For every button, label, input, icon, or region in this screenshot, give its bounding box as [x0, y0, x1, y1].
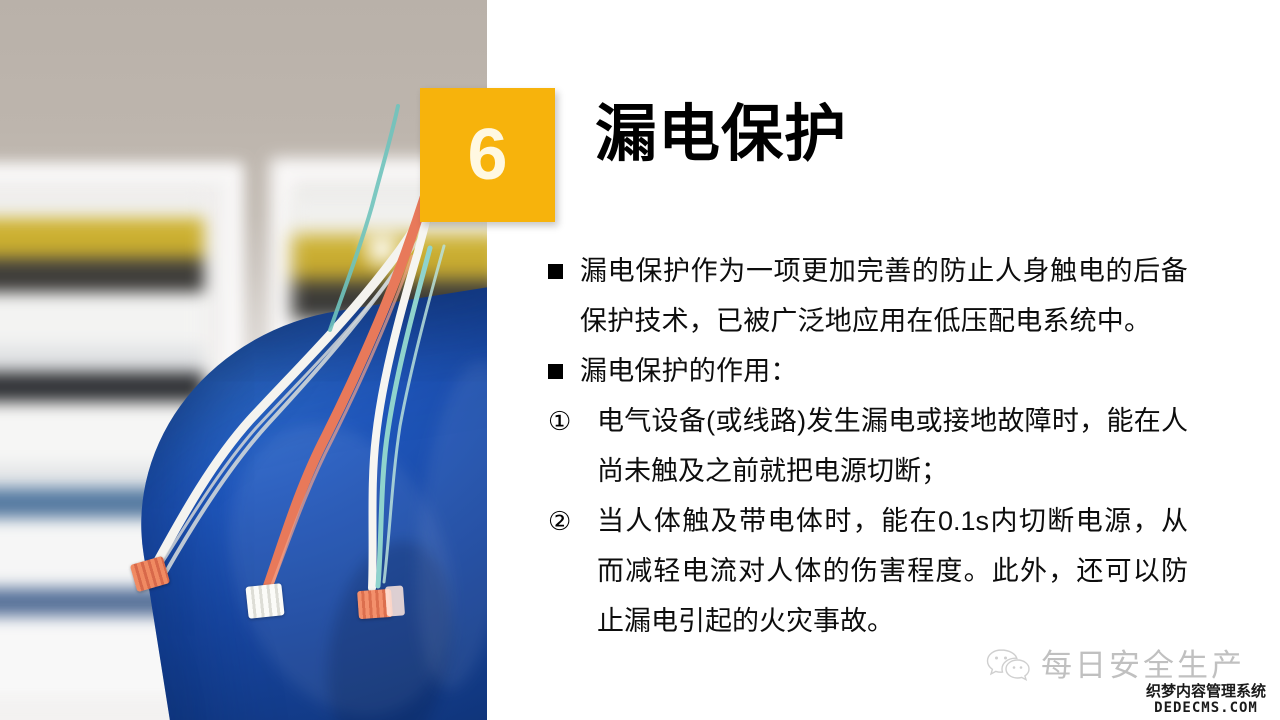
bullet-item: 漏电保护作为一项更加完善的防止人身触电的后备保护技术，已被广泛地应用在低压配电系… — [548, 246, 1188, 346]
slide: 6 漏电保护 漏电保护作为一项更加完善的防止人身触电的后备保护技术，已被广泛地应… — [0, 0, 1280, 720]
wechat-watermark: 每日安全生产 — [985, 642, 1215, 688]
dedecms-watermark: 织梦内容管理系统 DEDECMS.COM — [1132, 684, 1280, 716]
terminal-block-white-center — [245, 583, 284, 619]
bullet-item: 漏电保护的作用： — [548, 346, 1188, 396]
bullet-item-text: 漏电保护的作用： — [580, 346, 1188, 396]
wechat-icon — [985, 647, 1031, 683]
numbered-item: ① 电气设备(或线路)发生漏电或接地故障时，能在人尚未触及之前就把电源切断； — [548, 396, 1188, 496]
wechat-account-name: 每日安全生产 — [1041, 650, 1245, 681]
bullet-square-icon — [548, 364, 563, 379]
numbered-item: ② 当人体触及带电体时，能在0.1s内切断电源，从而减轻电流对人体的伤害程度。此… — [548, 496, 1188, 646]
body-content: 漏电保护作为一项更加完善的防止人身触电的后备保护技术，已被广泛地应用在低压配电系… — [548, 246, 1188, 646]
numbered-item-text: 当人体触及带电体时，能在0.1s内切断电源，从而减轻电流对人体的伤害程度。此外，… — [597, 496, 1188, 646]
page-title: 漏电保护 — [595, 104, 847, 166]
numbered-item-text: 电气设备(或线路)发生漏电或接地故障时，能在人尚未触及之前就把电源切断； — [597, 396, 1188, 496]
dedecms-cn-label: 织梦内容管理系统 — [1132, 684, 1280, 700]
electrician-photo — [0, 0, 487, 720]
section-number-badge: 6 — [420, 88, 555, 222]
bullet-square-icon — [548, 264, 563, 279]
bullet-item-text: 漏电保护作为一项更加完善的防止人身触电的后备保护技术，已被广泛地应用在低压配电系… — [580, 246, 1188, 346]
section-number-label: 6 — [467, 119, 507, 191]
draped-cables — [0, 0, 487, 720]
circled-number-1-icon: ① — [548, 396, 578, 446]
cable-sleeve — [385, 585, 405, 616]
circled-number-2-icon: ② — [548, 496, 578, 546]
dedecms-en-label: DEDECMS.COM — [1132, 700, 1280, 716]
